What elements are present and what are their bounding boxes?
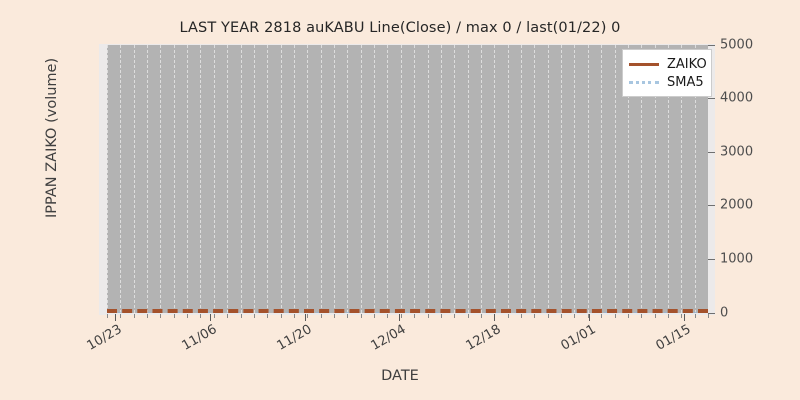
series-layer (107, 45, 708, 313)
y-tick-mark (708, 98, 715, 99)
y-tick-mark (708, 313, 715, 314)
x-tick-label: 12/04 (368, 322, 408, 354)
series-line-zaiko (107, 309, 708, 313)
legend-label-sma5: SMA5 (667, 76, 704, 89)
y-tick-label: 2000 (720, 199, 753, 212)
x-tick-mark (210, 314, 211, 321)
x-tick-label: 12/18 (463, 322, 503, 354)
x-tick-mark (399, 314, 400, 321)
y-tick-mark (708, 45, 715, 46)
y-tick-label: 3000 (720, 145, 753, 158)
x-tick-label: 10/23 (84, 322, 124, 354)
x-tick-label: 11/06 (179, 322, 219, 354)
x-axis-label: DATE (0, 368, 800, 384)
y-tick-label: 1000 (720, 252, 753, 265)
plot-area (107, 45, 708, 313)
y-tick-mark (708, 152, 715, 153)
x-tick-mark (115, 314, 116, 321)
y-axis-ticks: 010002000300040005000 (708, 0, 788, 400)
x-tick-mark (305, 314, 306, 321)
legend-label-zaiko: ZAIKO (667, 58, 707, 71)
legend-item-zaiko[interactable]: ZAIKO (629, 55, 704, 73)
legend-item-sma5[interactable]: SMA5 (629, 73, 704, 91)
legend-swatch-zaiko-icon (629, 63, 659, 66)
x-minor-tick-mark (708, 314, 709, 318)
x-tick-mark (494, 314, 495, 321)
y-tick-label: 5000 (720, 38, 753, 51)
x-tick-label: 11/20 (274, 322, 314, 354)
legend-swatch-sma5-icon (629, 81, 659, 84)
chart-title: LAST YEAR 2818 auKABU Line(Close) / max … (0, 20, 800, 36)
y-tick-mark (708, 259, 715, 260)
x-tick-mark (589, 314, 590, 321)
x-tick-mark (684, 314, 685, 321)
y-axis-label: IPPAN ZAIKO (volume) (44, 58, 60, 218)
x-tick-label: 01/15 (653, 322, 693, 354)
y-tick-label: 0 (720, 306, 728, 319)
x-axis-tick-labels: 10/2311/0611/2012/0412/1801/0101/15 (107, 322, 708, 362)
y-tick-mark (708, 205, 715, 206)
x-tick-label: 01/01 (558, 322, 598, 354)
chart-figure: LAST YEAR 2818 auKABU Line(Close) / max … (0, 0, 800, 400)
chart-legend[interactable]: ZAIKO SMA5 (622, 49, 712, 97)
y-tick-label: 4000 (720, 92, 753, 105)
